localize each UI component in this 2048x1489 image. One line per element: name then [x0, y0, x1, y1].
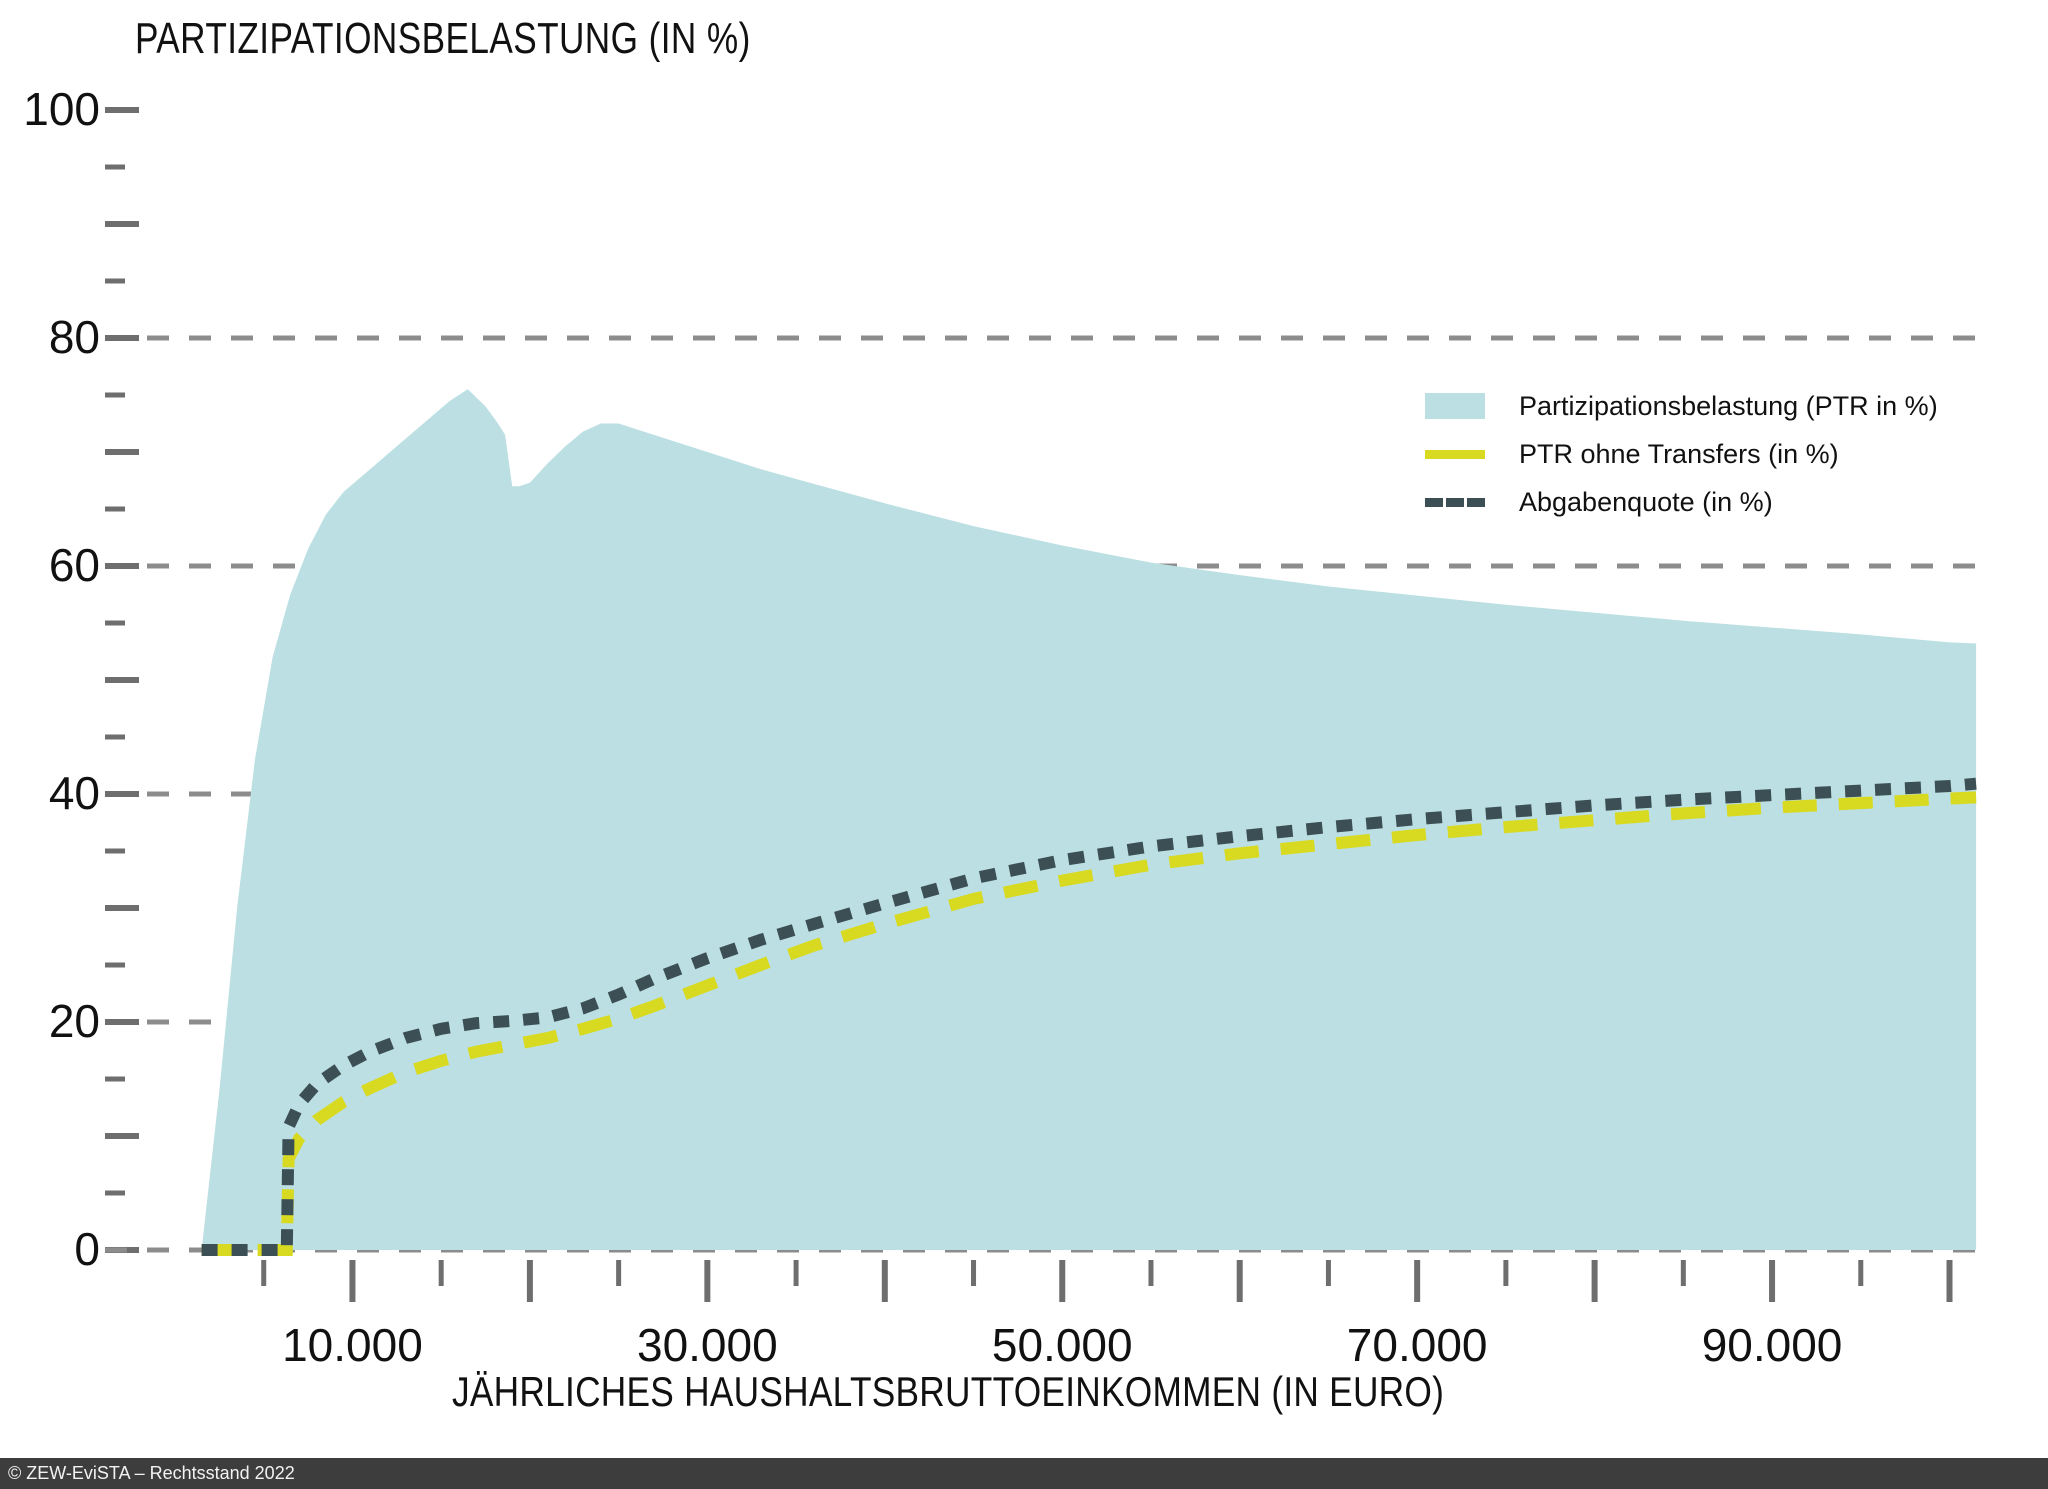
- y-axis-tick-label: 0: [0, 1226, 100, 1272]
- legend-area-swatch-icon: [1425, 393, 1485, 419]
- legend-label: Partizipationsbelastung (PTR in %): [1519, 391, 1938, 422]
- x-axis-tick-label: 10.000: [222, 1322, 482, 1368]
- y-axis-tick-label: 80: [0, 314, 100, 360]
- y-axis-tick-label: 20: [0, 998, 100, 1044]
- x-axis-group: [105, 1250, 1985, 1302]
- legend-item-partizipationsbelastung[interactable]: Partizipationsbelastung (PTR in %): [1425, 382, 1938, 430]
- legend-label: Abgabenquote (in %): [1519, 487, 1773, 518]
- legend-item-ptr-ohne-transfers[interactable]: PTR ohne Transfers (in %): [1425, 430, 1938, 478]
- x-axis-tick-label: 30.000: [577, 1322, 837, 1368]
- y-axis-ticks-group: [105, 110, 139, 1250]
- x-axis-tick-label: 50.000: [932, 1322, 1192, 1368]
- legend-item-abgabenquote[interactable]: Abgabenquote (in %): [1425, 478, 1938, 526]
- x-axis-tick-label: 70.000: [1287, 1322, 1547, 1368]
- y-axis-tick-label: 40: [0, 770, 100, 816]
- legend-label: PTR ohne Transfers (in %): [1519, 439, 1839, 470]
- y-axis-tick-label: 60: [0, 542, 100, 588]
- legend-dotted-line-swatch-icon: [1425, 498, 1485, 507]
- footer-bar: [0, 1458, 2048, 1489]
- x-axis-title: JÄHRLICHES HAUSHALTSBRUTTOEINKOMMEN (IN …: [452, 1368, 1444, 1416]
- y-axis-tick-label: 100: [0, 86, 100, 132]
- chart-page: PARTIZIPATIONSBELASTUNG (IN %) 020406080…: [0, 0, 2048, 1489]
- copyright-text: © ZEW-EviSTA – Rechtsstand 2022: [8, 1463, 295, 1484]
- chart-legend: Partizipationsbelastung (PTR in %) PTR o…: [1425, 382, 1938, 526]
- chart-plot-area: [0, 0, 2048, 1489]
- legend-dashed-line-swatch-icon: [1425, 450, 1485, 459]
- x-axis-tick-label: 90.000: [1642, 1322, 1902, 1368]
